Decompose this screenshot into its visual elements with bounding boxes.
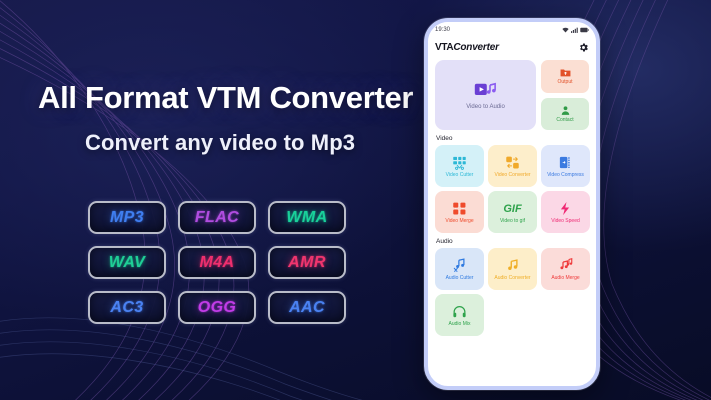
tile-label: Video to Audio xyxy=(466,104,505,110)
tile-video-speed[interactable]: Video Speed xyxy=(541,191,590,233)
battery-icon xyxy=(580,27,589,33)
tile-label: Audio Cutter xyxy=(446,276,474,281)
format-badge-label: M4A xyxy=(200,254,235,272)
format-badge-label: WAV xyxy=(109,254,145,272)
tile-label: Video Compress xyxy=(547,173,584,178)
format-badge-label: AC3 xyxy=(110,299,143,317)
format-badge[interactable]: AC3 xyxy=(88,291,166,324)
status-time: 19:30 xyxy=(435,27,450,33)
tile-video-compress[interactable]: Video Compress xyxy=(541,145,590,187)
merge-squares-icon xyxy=(452,200,467,217)
format-badge[interactable]: WMA xyxy=(268,201,346,234)
music-notes-icon xyxy=(558,257,573,274)
phone-mockup: 19:30 VTAConverter xyxy=(424,18,600,390)
tile-audio-converter[interactable]: Audio Converter xyxy=(488,248,537,290)
section-grid-video: Video CutterVideo ConverterVideo Compres… xyxy=(435,145,589,233)
tile-audio-mix[interactable]: Audio Mix xyxy=(435,294,484,336)
background-wave-decoration xyxy=(0,0,711,400)
format-badge-label: AAC xyxy=(289,299,325,317)
format-badge[interactable]: M4A xyxy=(178,246,256,279)
format-badge-label: OGG xyxy=(198,299,237,317)
tile-output[interactable]: Output xyxy=(541,60,589,93)
quick-actions: Output Contact xyxy=(541,60,589,130)
tile-label: Audio Merge xyxy=(551,276,579,281)
tile-video-to-audio[interactable]: Video to Audio xyxy=(435,60,536,130)
promo-banner: All Format VTM Converter Convert any vid… xyxy=(0,0,711,400)
scissors-grid-icon xyxy=(452,154,467,171)
lightning-icon xyxy=(558,200,573,217)
tile-audio-merge[interactable]: Audio Merge xyxy=(541,248,590,290)
format-badge[interactable]: MP3 xyxy=(88,201,166,234)
tile-video-to-gif[interactable]: GIFVideo to gif xyxy=(488,191,537,233)
headphones-icon xyxy=(452,303,467,320)
compress-film-icon xyxy=(558,154,573,171)
app-content: Video to Audio Output xyxy=(428,57,596,336)
tile-label: Output xyxy=(557,79,572,85)
format-badge[interactable]: AMR xyxy=(268,246,346,279)
format-badge-label: AMR xyxy=(288,254,326,272)
gif-text-icon: GIF xyxy=(503,200,521,217)
tile-label: Video to gif xyxy=(500,219,525,224)
tile-label: Audio Converter xyxy=(494,276,530,281)
promo-subheadline: Convert any video to Mp3 xyxy=(85,130,355,156)
tile-audio-cutter[interactable]: Audio Cutter xyxy=(435,248,484,290)
format-badge[interactable]: FLAC xyxy=(178,201,256,234)
convert-arrows-icon xyxy=(505,154,520,171)
phone-status-bar: 19:30 xyxy=(428,22,596,37)
app-brand-bold: VTA xyxy=(435,42,453,53)
tile-label: Contact xyxy=(556,117,573,123)
format-badge-label: MP3 xyxy=(110,209,144,227)
format-badge[interactable]: OGG xyxy=(178,291,256,324)
format-badge[interactable]: WAV xyxy=(88,246,166,279)
format-badge-label: WMA xyxy=(286,209,327,227)
section-title-video: Video xyxy=(436,135,589,142)
folder-icon xyxy=(560,67,571,78)
section-grid-audio: Audio CutterAudio ConverterAudio MergeAu… xyxy=(435,248,589,336)
promo-headline: All Format VTM Converter xyxy=(38,80,413,116)
tile-label: Audio Mix xyxy=(449,322,471,327)
app-header: VTAConverter xyxy=(428,37,596,57)
app-brand-italic: Converter xyxy=(453,42,498,53)
app-brand: VTAConverter xyxy=(435,42,499,53)
tile-label: Video Speed xyxy=(551,219,580,224)
wifi-icon xyxy=(562,27,569,33)
tile-label: Video Cutter xyxy=(446,173,474,178)
signal-icon xyxy=(571,27,578,33)
tile-contact[interactable]: Contact xyxy=(541,98,589,131)
format-badge[interactable]: AAC xyxy=(268,291,346,324)
music-note-icon xyxy=(505,257,520,274)
section-title-audio: Audio xyxy=(436,238,589,245)
tile-video-cutter[interactable]: Video Cutter xyxy=(435,145,484,187)
tile-video-converter[interactable]: Video Converter xyxy=(488,145,537,187)
format-badge-label: FLAC xyxy=(195,209,239,227)
gear-icon[interactable] xyxy=(578,42,589,53)
music-cut-icon xyxy=(452,257,467,274)
person-icon xyxy=(560,105,571,116)
tile-video-merge[interactable]: Video Merge xyxy=(435,191,484,233)
tile-label: Video Merge xyxy=(445,219,473,224)
video-to-audio-icon xyxy=(474,81,498,101)
top-actions-row: Video to Audio Output xyxy=(435,60,589,130)
tile-label: Video Converter xyxy=(494,173,530,178)
format-badge-grid: MP3FLACWMAWAVM4AAMRAC3OGGAAC xyxy=(88,201,346,324)
